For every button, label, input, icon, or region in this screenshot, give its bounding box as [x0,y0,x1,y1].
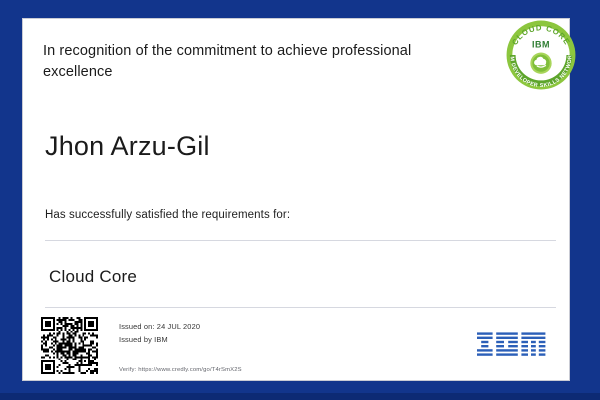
recipient-name: Jhon Arzu-Gil [45,131,210,162]
issued-on-text: Issued on: 24 JUL 2020 [119,321,200,334]
issue-details: Issued on: 24 JUL 2020 Issued by IBM [119,321,200,347]
certificate-card-inner: In recognition of the commitment to achi… [23,19,569,380]
verify-link[interactable]: Verify: https://www.credly.com/go/T4rSmX… [119,367,242,373]
badge-center-text: IBM [532,40,550,50]
certificate-card: In recognition of the commitment to achi… [22,18,570,381]
issued-by-text: Issued by IBM [119,334,200,347]
qr-code[interactable] [41,317,98,374]
credential-title: Cloud Core [49,267,137,287]
ibm-logo [477,330,549,360]
divider-upper [45,240,556,241]
frame-bottom-shade [0,393,600,400]
cloud-core-badge: CLOUD CORE IBM IBM DEVELOPER SKILLS NETW… [500,14,582,96]
recognition-text: In recognition of the commitment to achi… [43,41,423,83]
requirements-text: Has successfully satisfied the requireme… [45,209,290,221]
qr-code-canvas [41,317,98,374]
certificate-frame: In recognition of the commitment to achi… [0,0,600,400]
divider-lower [45,307,556,308]
